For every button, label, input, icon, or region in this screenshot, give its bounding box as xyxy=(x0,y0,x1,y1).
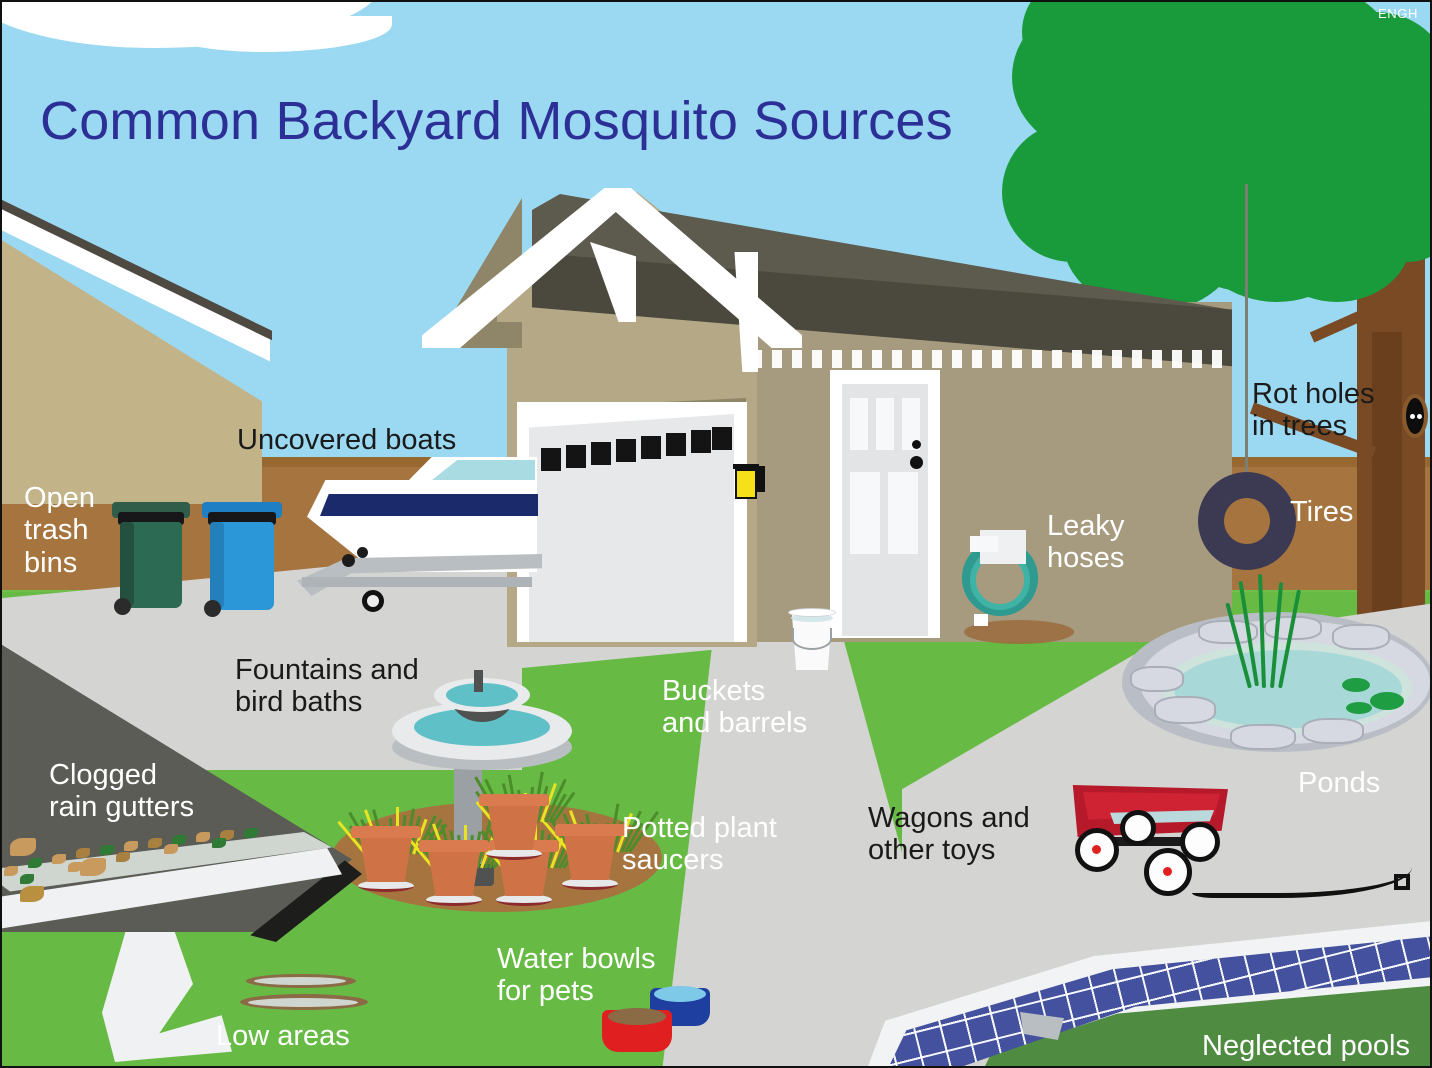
pot-rim xyxy=(419,840,489,852)
hose-hanger-arm xyxy=(970,536,998,552)
door-panel xyxy=(850,472,880,554)
lily-pad xyxy=(1342,678,1370,692)
debris-leaf xyxy=(148,838,162,848)
mosquito-sources-infographic: Common Backyard Mosquito Sources ENGH Un… xyxy=(0,0,1432,1068)
rot-hole-eye-right xyxy=(1417,414,1422,419)
bin-wheel xyxy=(114,598,131,615)
label-wagons-other-toys: Wagons and other toys xyxy=(868,802,1030,867)
door-lock-icon[interactable] xyxy=(912,440,921,449)
door-panel xyxy=(876,398,894,450)
roof-leaf xyxy=(20,886,44,902)
label-rot-holes-in-trees: Rot holes in trees xyxy=(1252,378,1375,443)
lily-pad xyxy=(1370,692,1404,710)
debris-leaf xyxy=(196,832,210,842)
bucket-rim xyxy=(788,608,836,617)
tire-swing-rope xyxy=(1245,184,1248,474)
roof-leaf xyxy=(10,838,36,856)
door-panel xyxy=(850,398,868,450)
garage-eave-trim xyxy=(752,350,1232,368)
label-tires: Tires xyxy=(1290,496,1353,528)
boat-stripe xyxy=(320,494,538,516)
debris-leaf xyxy=(244,828,258,838)
pond-rock xyxy=(1302,718,1364,744)
roof-leaf xyxy=(80,858,106,876)
wagon-handle-grip xyxy=(1394,874,1410,890)
garage-door-window xyxy=(616,439,636,462)
debris-leaf xyxy=(52,854,66,864)
trailer-wheel xyxy=(362,590,384,612)
wagon-wheel xyxy=(1120,810,1156,846)
bin-wheel xyxy=(204,600,221,617)
debris-leaf xyxy=(4,866,18,876)
label-fountains-bird-baths: Fountains and bird baths xyxy=(235,654,419,719)
hose-nozzle xyxy=(974,614,988,626)
pond-rock xyxy=(1154,696,1216,724)
garage-door-window xyxy=(541,448,561,471)
label-leaky-hoses: Leaky hoses xyxy=(1047,510,1124,575)
label-open-trash-bins: Open trash bins xyxy=(24,482,95,579)
tree-foliage-blob xyxy=(1002,122,1142,262)
page-title: Common Backyard Mosquito Sources xyxy=(40,90,953,152)
garage-door-window xyxy=(566,445,586,468)
label-clogged-rain-gutters: Clogged rain gutters xyxy=(49,759,194,824)
garage-door-window xyxy=(591,442,611,465)
bucket-handle xyxy=(792,628,832,650)
debris-leaf xyxy=(164,844,178,854)
garage-door-window xyxy=(641,436,661,459)
debris-leaf xyxy=(28,858,42,868)
low-area-puddle-water xyxy=(248,998,358,1007)
door-panel xyxy=(888,472,918,554)
garage-door-window xyxy=(666,433,686,456)
low-area-puddle-water xyxy=(254,977,346,985)
garage-door-window xyxy=(691,430,711,453)
bin-body-shade xyxy=(120,522,134,608)
rot-hole-icon xyxy=(1402,394,1428,438)
wagon-wheel-hub xyxy=(1092,845,1101,854)
pot-rim xyxy=(479,794,549,806)
fountain-jet xyxy=(474,670,483,692)
pond-rock xyxy=(1130,666,1184,692)
trailer-roller xyxy=(342,554,355,567)
wagon-wheel xyxy=(1180,822,1220,862)
side-door[interactable] xyxy=(842,384,928,636)
pond-rock xyxy=(1332,624,1390,650)
garage-door[interactable] xyxy=(529,414,734,642)
debris-leaf xyxy=(76,848,90,858)
pot-rim xyxy=(351,826,421,838)
watermark-label: ENGH xyxy=(1378,6,1418,21)
debris-leaf xyxy=(116,852,130,862)
garage-door-window xyxy=(712,427,732,450)
pet-bowl-red-food xyxy=(608,1008,666,1025)
label-neglected-pools: Neglected pools xyxy=(1202,1030,1410,1062)
lantern-glass xyxy=(735,469,757,499)
bin-body-shade xyxy=(210,522,224,610)
debris-leaf xyxy=(212,838,226,848)
label-low-areas: Low areas xyxy=(216,1020,350,1052)
wagon-wheel xyxy=(1075,828,1119,872)
pet-bowl-blue-water xyxy=(654,986,706,1002)
pond-rock xyxy=(1230,724,1296,750)
label-uncovered-boats: Uncovered boats xyxy=(237,424,456,456)
debris-leaf xyxy=(20,874,34,884)
label-ponds: Ponds xyxy=(1298,767,1380,799)
debris-leaf xyxy=(124,841,138,851)
label-buckets-and-barrels: Buckets and barrels xyxy=(662,675,807,740)
trailer-roller xyxy=(357,547,368,558)
pot-rim xyxy=(555,824,625,836)
debris-leaf xyxy=(100,845,114,855)
lily-pad xyxy=(1346,702,1372,714)
label-water-bowls-for-pets: Water bowls for pets xyxy=(497,943,655,1008)
trailer-frame xyxy=(302,577,532,587)
door-knob-icon[interactable] xyxy=(910,456,923,469)
wagon-wheel-hub xyxy=(1163,867,1172,876)
tire-center-hole xyxy=(1224,498,1270,544)
label-potted-plant-saucers: Potted plant saucers xyxy=(622,812,777,877)
rot-hole-eye-left xyxy=(1410,414,1415,419)
